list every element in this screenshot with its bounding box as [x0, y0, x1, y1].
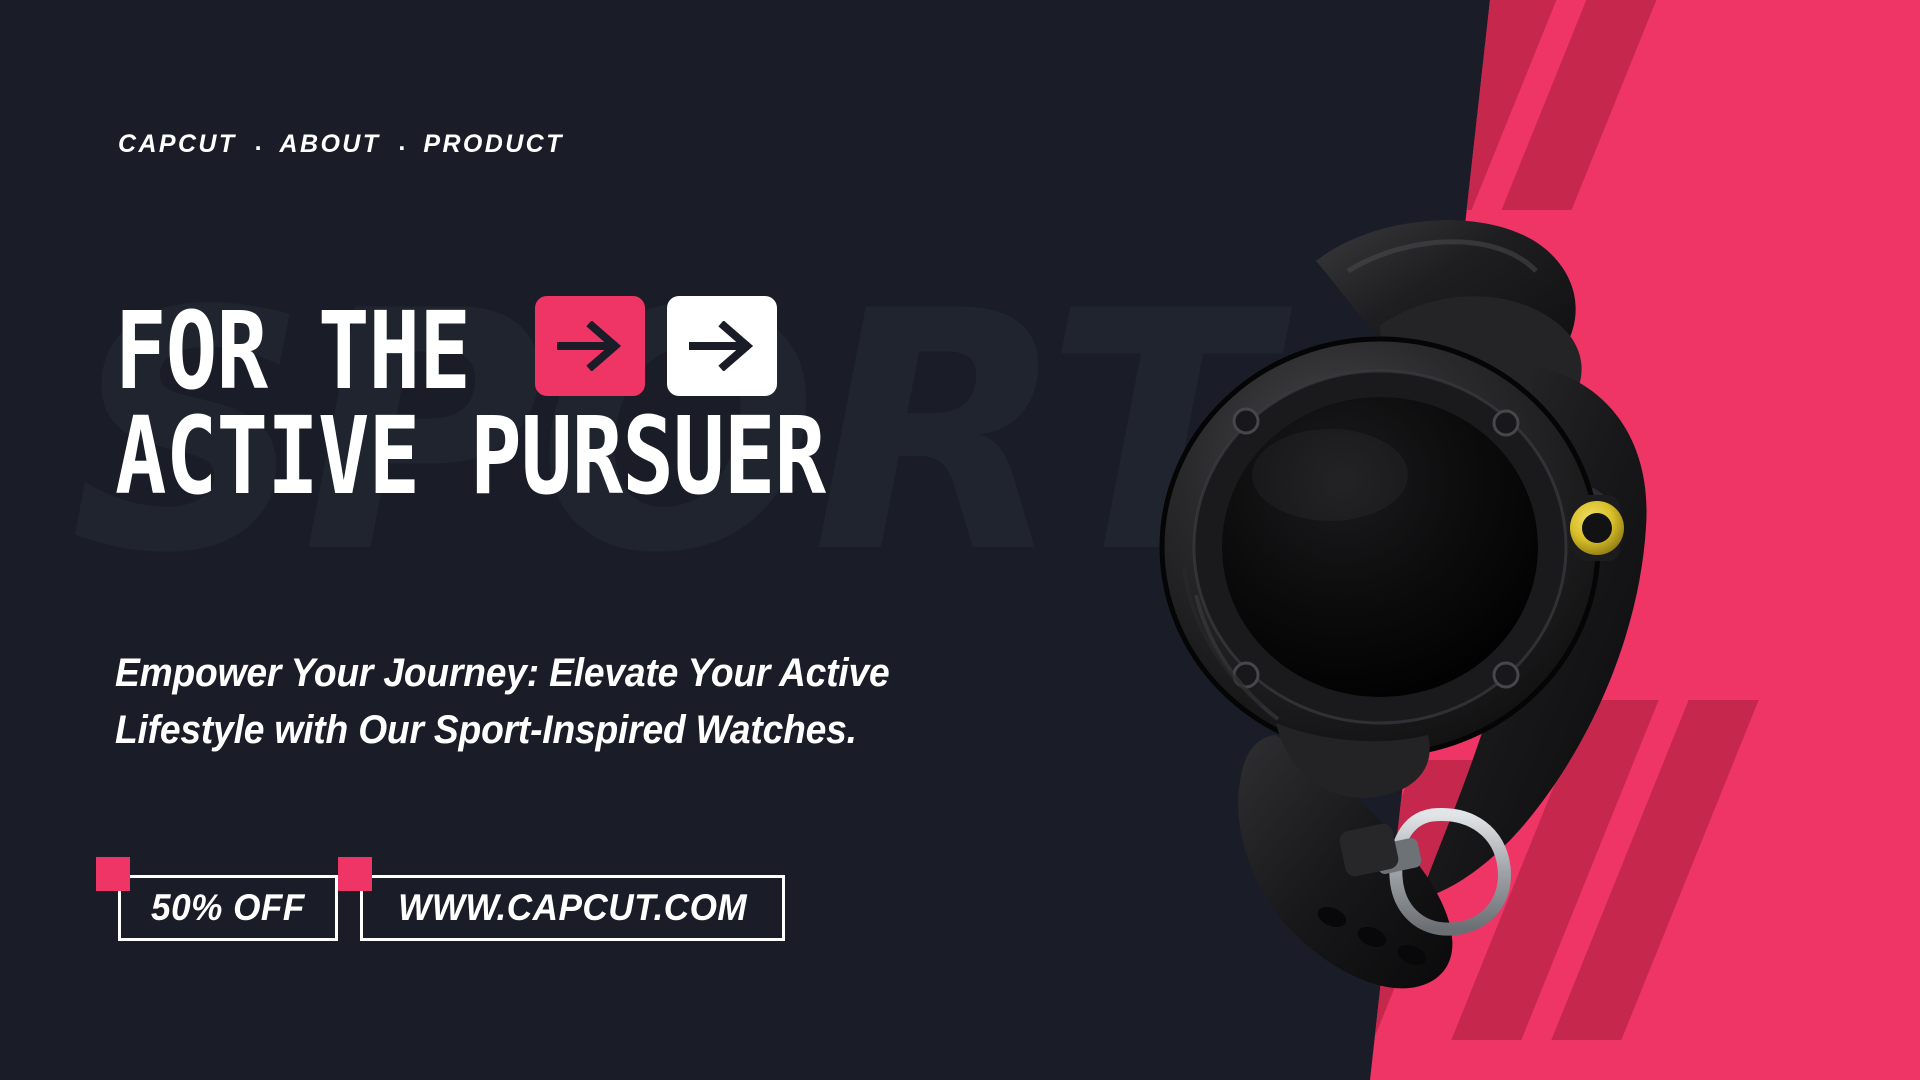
- watch-crown-button[interactable]: [1570, 495, 1624, 561]
- bezel-screw: [1234, 409, 1258, 433]
- bezel-screw: [1494, 411, 1518, 435]
- screen-glare: [1252, 429, 1408, 521]
- nav-separator: .: [380, 128, 423, 157]
- arrow-right-icon: [689, 321, 755, 371]
- website-badge[interactable]: WWW.CAPCUT.COM: [360, 875, 785, 941]
- subtitle-line-2: Lifestyle with Our Sport-Inspired Watche…: [115, 702, 952, 759]
- subtitle-line-1: Empower Your Journey: Elevate Your Activ…: [115, 645, 952, 702]
- headline-row-1: FOR THE: [115, 300, 1003, 405]
- arrow-right-icon: [557, 321, 623, 371]
- nav-item-capcut[interactable]: CAPCUT: [118, 130, 237, 159]
- subtitle-block: Empower Your Journey: Elevate Your Activ…: [115, 645, 1015, 759]
- nav-separator: .: [237, 128, 280, 157]
- promotional-banner: SPORT CAPCUT . ABOUT . PRODUCT FOR THE: [0, 0, 1920, 1080]
- arrow-button-group: [535, 296, 777, 396]
- headline-block: FOR THE ACTIVE PURSUER: [115, 300, 1003, 510]
- top-navigation: CAPCUT . ABOUT . PRODUCT: [118, 130, 564, 159]
- discount-badge-wrapper: 50% OFF: [118, 875, 338, 941]
- headline-line-2: ACTIVE PURSUER: [115, 405, 825, 510]
- pink-corner-square: [338, 857, 372, 891]
- pink-corner-square: [96, 857, 130, 891]
- arrow-right-button-secondary[interactable]: [667, 296, 777, 396]
- product-image-smartwatch: [1080, 175, 1800, 995]
- cta-bar: 50% OFF WWW.CAPCUT.COM: [118, 875, 785, 941]
- website-label: WWW.CAPCUT.COM: [398, 887, 747, 929]
- bezel-screw: [1494, 663, 1518, 687]
- nav-item-product[interactable]: PRODUCT: [423, 130, 563, 159]
- nav-item-about[interactable]: ABOUT: [280, 130, 381, 159]
- arrow-right-button-primary[interactable]: [535, 296, 645, 396]
- smartwatch-illustration: [1080, 175, 1800, 995]
- website-badge-wrapper: WWW.CAPCUT.COM: [360, 875, 785, 941]
- discount-badge[interactable]: 50% OFF: [118, 875, 338, 941]
- discount-label: 50% OFF: [151, 887, 305, 929]
- headline-line-1: FOR THE: [115, 300, 470, 405]
